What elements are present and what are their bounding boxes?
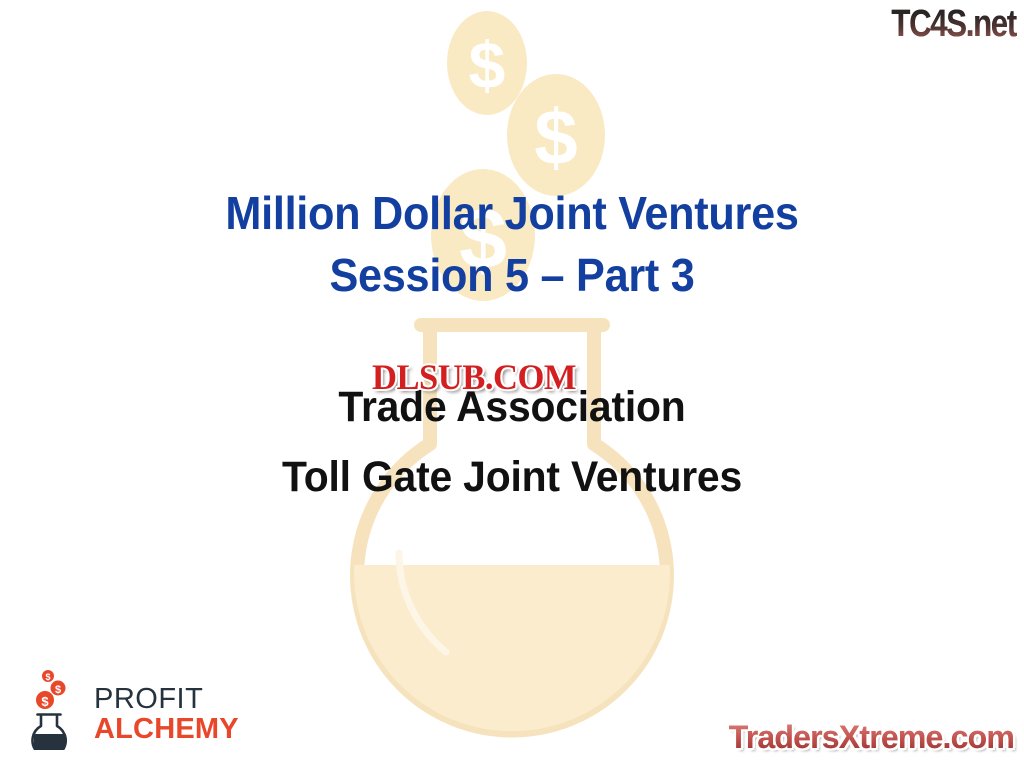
svg-text:$: $ <box>534 93 577 181</box>
tradersxtreme-watermark: TradersXtreme.com <box>729 718 1014 756</box>
logo-coin-large-icon: $ <box>36 691 54 709</box>
title-line-2: Session 5 – Part 3 <box>31 244 994 306</box>
slide-title: Million Dollar Joint Ventures Session 5 … <box>0 182 1024 306</box>
logo-coin-medium-icon: $ <box>51 681 66 697</box>
profit-alchemy-logo: $ $ $ <box>26 668 239 750</box>
dollar-coin-icon: $ <box>507 74 605 196</box>
presentation-slide: $ $ $ Million Dollar Joint Ventures Sess… <box>0 0 1024 768</box>
flask-with-coins-icon: $ $ $ <box>26 668 84 750</box>
subtitle-line-2: Toll Gate Joint Ventures <box>26 442 999 512</box>
svg-text:$: $ <box>41 694 49 709</box>
logo-word-profit: PROFIT <box>94 684 239 714</box>
tc4s-watermark: TC4S.net <box>891 2 1016 46</box>
logo-flask-icon <box>33 715 69 751</box>
logo-coin-small-icon: $ <box>42 670 54 682</box>
svg-text:$: $ <box>45 672 50 682</box>
logo-word-alchemy: ALCHEMY <box>94 714 239 744</box>
profit-alchemy-wordmark: PROFIT ALCHEMY <box>94 684 239 750</box>
svg-text:$: $ <box>469 28 506 102</box>
dlsub-watermark: DLSUB.COM <box>372 357 576 397</box>
dollar-coin-icon: $ <box>447 11 527 115</box>
svg-text:$: $ <box>55 684 61 696</box>
title-line-1: Million Dollar Joint Ventures <box>31 182 994 244</box>
